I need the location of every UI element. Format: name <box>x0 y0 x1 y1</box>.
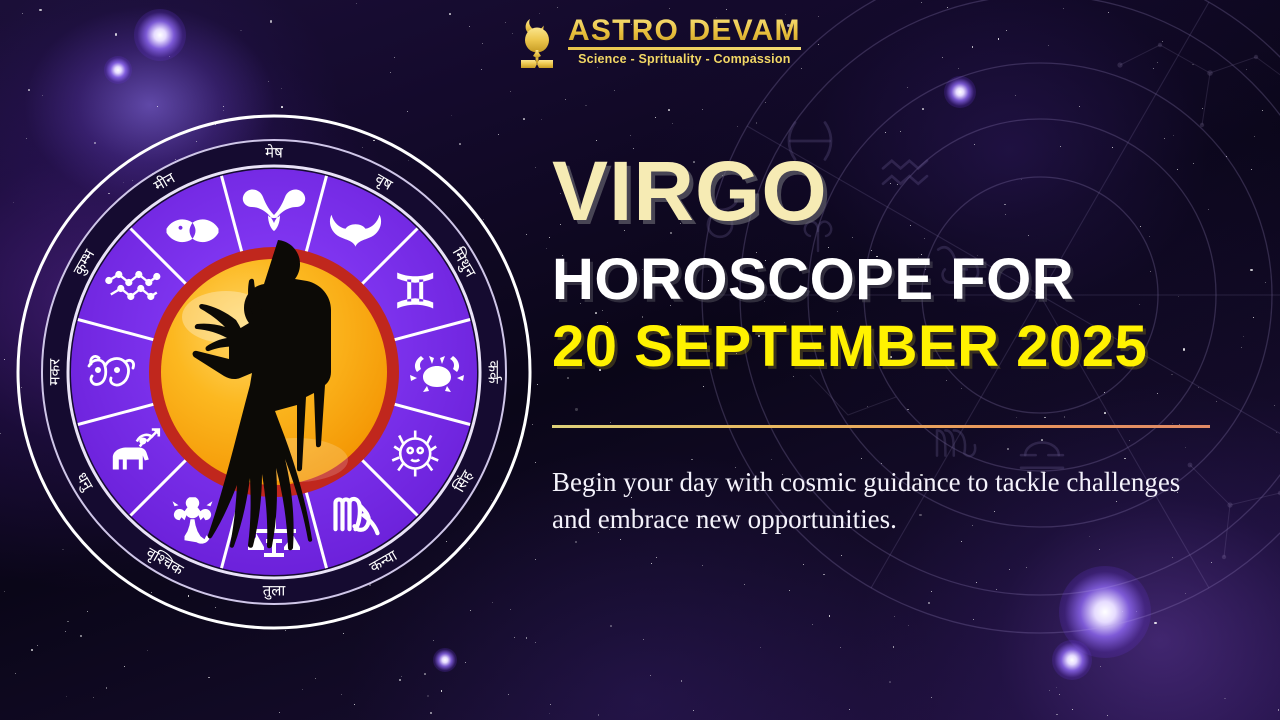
brand-logo[interactable]: ASTRO DEVAM Science - Sprituality - Comp… <box>514 10 801 72</box>
horoscope-headline: HOROSCOPE FOR <box>552 250 1252 310</box>
logo-divider <box>568 47 801 50</box>
horoscope-banner: ASTRO DEVAM Science - Sprituality - Comp… <box>0 0 1280 720</box>
zodiac-sign-title: VIRGO <box>552 150 1252 232</box>
horoscope-date: 20 SEPTEMBER 2025 <box>552 317 1252 377</box>
astro-devam-emblem-icon <box>514 10 560 72</box>
zodiac-label: मकर <box>46 358 64 385</box>
zodiac-label: तुला <box>263 582 287 601</box>
hero-text-column: VIRGO HOROSCOPE FOR 20 SEPTEMBER 2025 Be… <box>552 150 1252 538</box>
zodiac-label: मेष <box>265 144 283 162</box>
zodiac-label: कर्क <box>485 360 503 384</box>
brand-tagline: Science - Sprituality - Compassion <box>568 52 801 66</box>
hero-subtext: Begin your day with cosmic guidance to t… <box>552 464 1212 539</box>
zodiac-wheel[interactable]: मेषवृषमिथुनकर्कसिंहकन्यातुलावृश्चिकधनुमक… <box>14 112 534 632</box>
brand-name: ASTRO DEVAM <box>568 16 801 47</box>
section-divider <box>552 425 1210 428</box>
